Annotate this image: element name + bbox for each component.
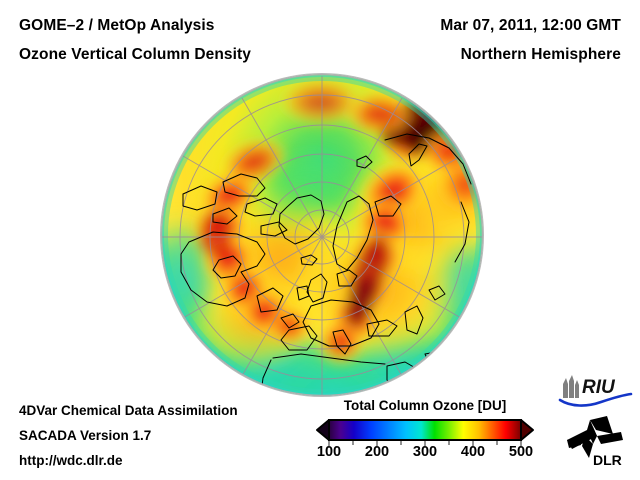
credit-line-version: SACADA Version 1.7 xyxy=(19,428,151,443)
colorbar-title: Total Column Ozone [DU] xyxy=(305,398,545,413)
colorbar-tick-3: 400 xyxy=(461,444,485,460)
riu-wordmark: RIU xyxy=(582,377,616,398)
colorbar-tick-2: 300 xyxy=(413,444,437,460)
riu-tower-icon xyxy=(563,375,579,398)
ozone-analysis-figure: GOME–2 / MetOp Analysis Ozone Vertical C… xyxy=(0,0,640,480)
ozone-field xyxy=(161,74,483,396)
colorbar-tick-1: 200 xyxy=(365,444,389,460)
colorbar-extend-min xyxy=(317,420,329,440)
credit-line-url: http://wdc.dlr.de xyxy=(19,453,123,468)
colorbar: Total Column Ozone [DU] xyxy=(305,398,545,468)
globe-disc xyxy=(161,74,483,396)
riu-logo: RIU xyxy=(557,374,633,410)
colorbar-tick-0: 100 xyxy=(317,444,341,460)
page-subtitle: Ozone Vertical Column Density xyxy=(19,46,251,64)
ozone-field-svg xyxy=(161,74,483,396)
dlr-logo: DLR xyxy=(563,414,629,468)
ozone-map xyxy=(161,74,483,396)
colorbar-tick-4: 500 xyxy=(509,444,533,460)
credit-line-method: 4DVar Chemical Data Assimilation xyxy=(19,403,238,418)
colorbar-extend-max xyxy=(521,420,533,440)
analysis-datetime: Mar 07, 2011, 12:00 GMT xyxy=(440,17,621,35)
dlr-wordmark: DLR xyxy=(593,452,622,468)
colorbar-swatch xyxy=(305,418,545,446)
region-label: Northern Hemisphere xyxy=(461,46,621,64)
page-title: GOME–2 / MetOp Analysis xyxy=(19,17,215,35)
